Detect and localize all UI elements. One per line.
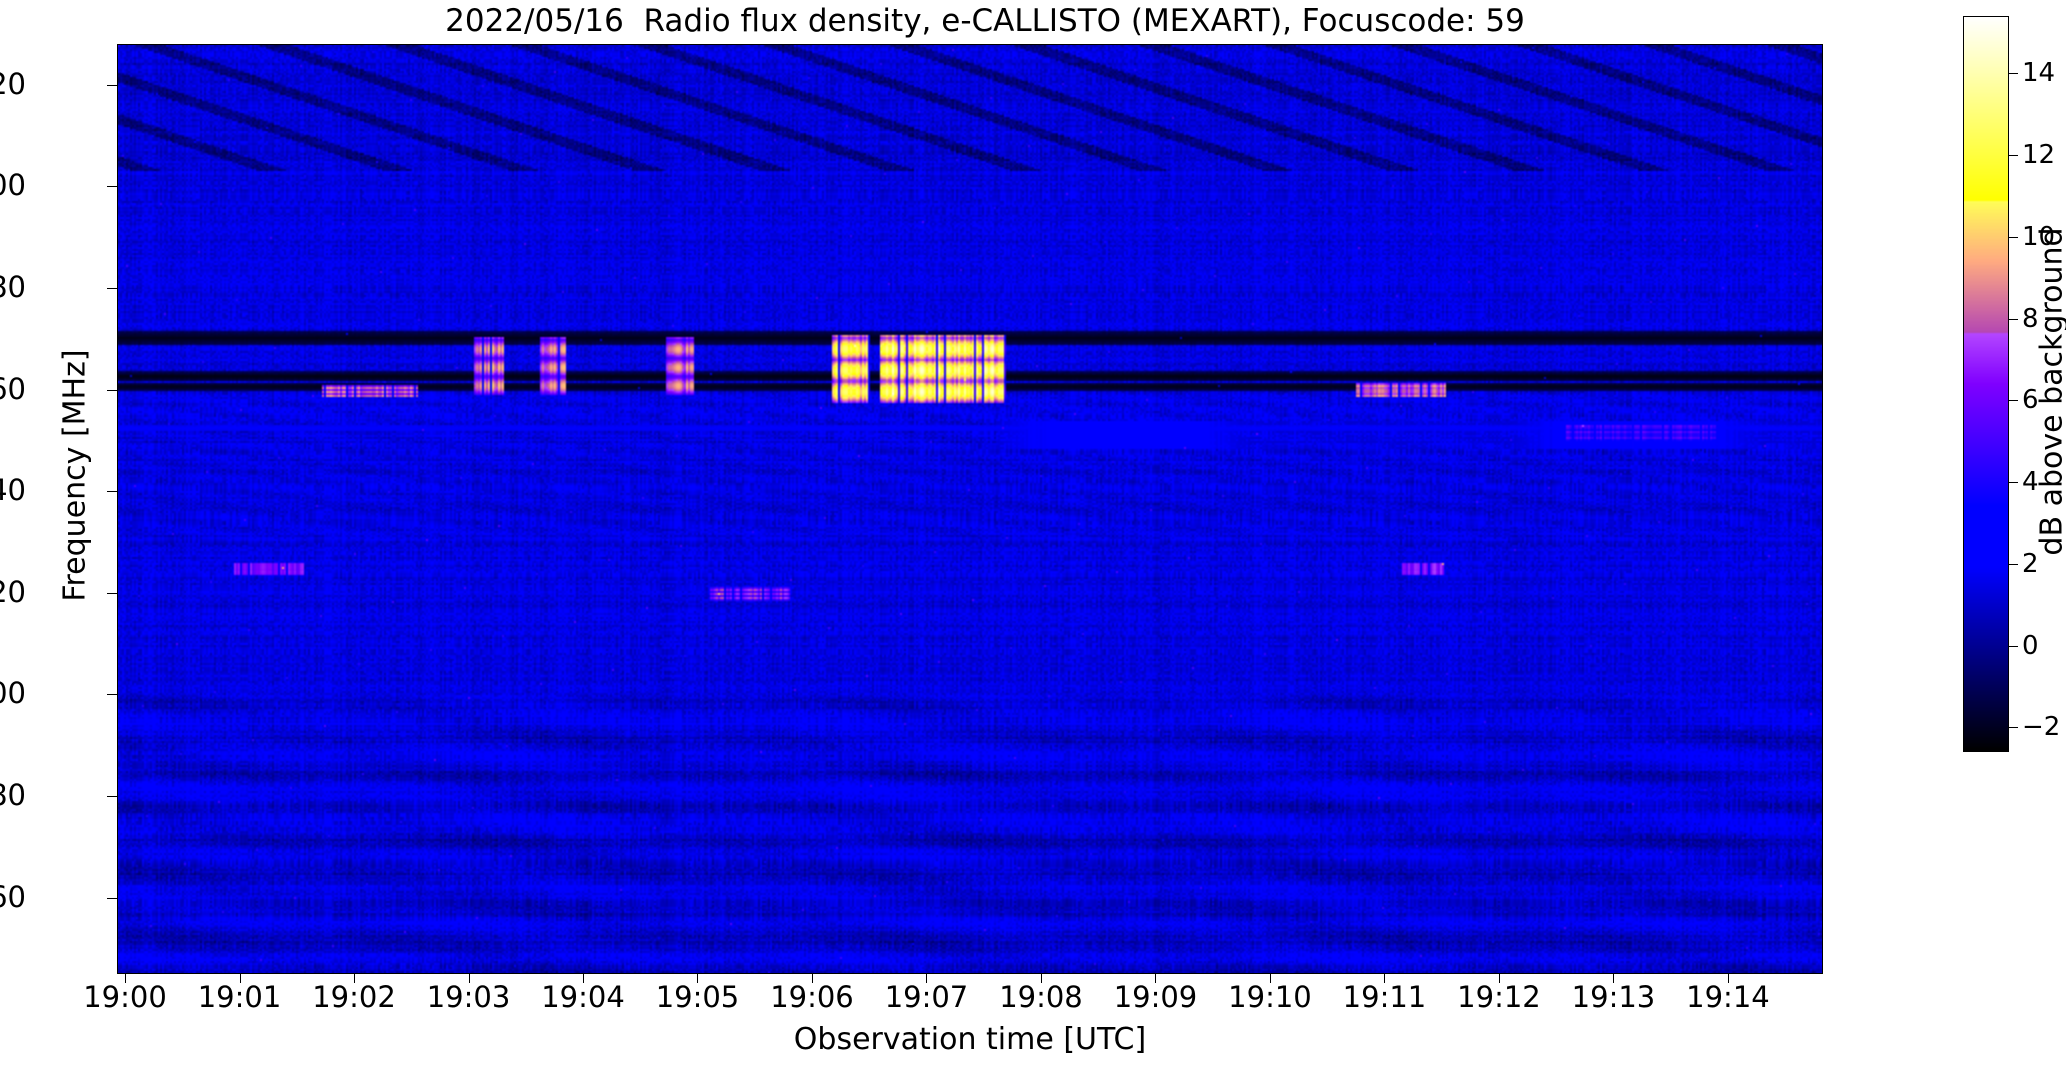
x-tick-mark xyxy=(1613,974,1614,983)
x-tick-mark xyxy=(1384,974,1385,983)
x-tick-mark xyxy=(812,974,813,983)
colorbar-tick-mark xyxy=(2009,73,2018,74)
y-tick-mark xyxy=(107,796,117,797)
x-tick-label: 19:14 xyxy=(1648,982,1808,1012)
x-tick-mark xyxy=(354,974,355,983)
x-tick-mark xyxy=(926,974,927,983)
y-tick-label: 160 xyxy=(0,375,26,404)
x-tick-mark xyxy=(1270,974,1271,983)
colorbar-tick-mark xyxy=(2009,564,2018,565)
colorbar-tick-mark xyxy=(2009,482,2018,483)
x-tick-mark xyxy=(583,974,584,983)
x-tick-mark xyxy=(697,974,698,983)
y-tick-label: 100 xyxy=(0,679,26,708)
spectrogram-figure: 2022/05/16 Radio flux density, e-CALLIST… xyxy=(0,0,2066,1067)
x-tick-mark xyxy=(1728,974,1729,983)
y-tick-mark xyxy=(107,491,117,492)
spectrogram-axes xyxy=(117,44,1823,974)
x-tick-mark xyxy=(1041,974,1042,983)
colorbar-gradient xyxy=(1964,17,2008,751)
colorbar-tick-mark xyxy=(2009,400,2018,401)
y-tick-mark xyxy=(107,288,117,289)
colorbar-tick-mark xyxy=(2009,319,2018,320)
y-tick-mark xyxy=(107,186,117,187)
spectrogram-image xyxy=(118,45,1822,973)
y-tick-label: 220 xyxy=(0,70,26,99)
y-tick-mark xyxy=(107,898,117,899)
colorbar-tick-mark xyxy=(2009,237,2018,238)
colorbar-tick-mark xyxy=(2009,727,2018,728)
x-tick-mark xyxy=(125,974,126,983)
y-tick-label: 60 xyxy=(0,883,26,912)
colorbar-tick-mark xyxy=(2009,155,2018,156)
colorbar xyxy=(1963,16,2009,752)
y-axis-label: Frequency [MHz] xyxy=(58,46,93,906)
y-tick-mark xyxy=(107,390,117,391)
y-tick-label: 120 xyxy=(0,578,26,607)
x-axis-label: Observation time [UTC] xyxy=(117,1022,1823,1057)
y-tick-label: 200 xyxy=(0,171,26,200)
y-tick-label: 80 xyxy=(0,781,26,810)
x-tick-mark xyxy=(1499,974,1500,983)
page-title: 2022/05/16 Radio flux density, e-CALLIST… xyxy=(120,4,1850,38)
y-tick-label: 180 xyxy=(0,273,26,302)
x-tick-mark xyxy=(240,974,241,983)
y-tick-mark xyxy=(107,85,117,86)
y-tick-label: 140 xyxy=(0,476,26,505)
colorbar-label: dB above background xyxy=(2035,22,2066,762)
x-tick-mark xyxy=(1155,974,1156,983)
y-tick-mark xyxy=(107,593,117,594)
x-tick-mark xyxy=(469,974,470,983)
colorbar-tick-mark xyxy=(2009,646,2018,647)
y-tick-mark xyxy=(107,694,117,695)
